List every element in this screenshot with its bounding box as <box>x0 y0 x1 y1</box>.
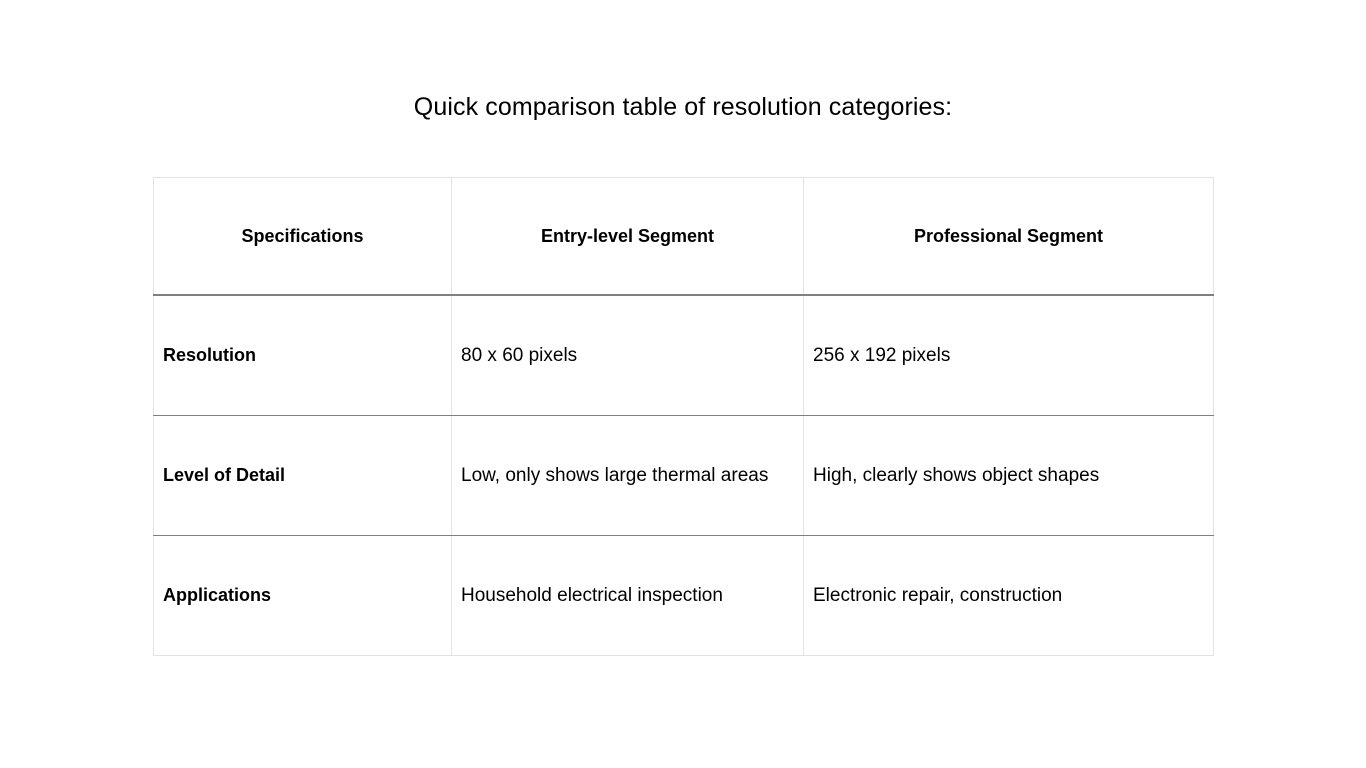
page-title: Quick comparison table of resolution cat… <box>0 90 1366 124</box>
table-row: Applications Household electrical inspec… <box>154 536 1214 656</box>
table-header: Specifications Entry-level Segment Profe… <box>154 178 1214 296</box>
cell-professional-resolution: 256 x 192 pixels <box>804 295 1214 416</box>
cell-entry-level-applications: Household electrical inspection <box>452 536 804 656</box>
table-header-row: Specifications Entry-level Segment Profe… <box>154 178 1214 296</box>
table-row: Resolution 80 x 60 pixels 256 x 192 pixe… <box>154 295 1214 416</box>
table-body: Resolution 80 x 60 pixels 256 x 192 pixe… <box>154 295 1214 656</box>
table-row: Level of Detail Low, only shows large th… <box>154 416 1214 536</box>
cell-professional-level-of-detail: High, clearly shows object shapes <box>804 416 1214 536</box>
cell-spec-resolution: Resolution <box>154 295 452 416</box>
cell-spec-applications: Applications <box>154 536 452 656</box>
cell-professional-applications: Electronic repair, construction <box>804 536 1214 656</box>
cell-entry-level-level-of-detail: Low, only shows large thermal areas <box>452 416 804 536</box>
page-root: Quick comparison table of resolution cat… <box>0 0 1366 768</box>
cell-entry-level-resolution: 80 x 60 pixels <box>452 295 804 416</box>
column-header-professional-segment: Professional Segment <box>804 178 1214 296</box>
resolution-comparison-table: Specifications Entry-level Segment Profe… <box>153 177 1214 656</box>
column-header-entry-level-segment: Entry-level Segment <box>452 178 804 296</box>
cell-spec-level-of-detail: Level of Detail <box>154 416 452 536</box>
column-header-specifications: Specifications <box>154 178 452 296</box>
